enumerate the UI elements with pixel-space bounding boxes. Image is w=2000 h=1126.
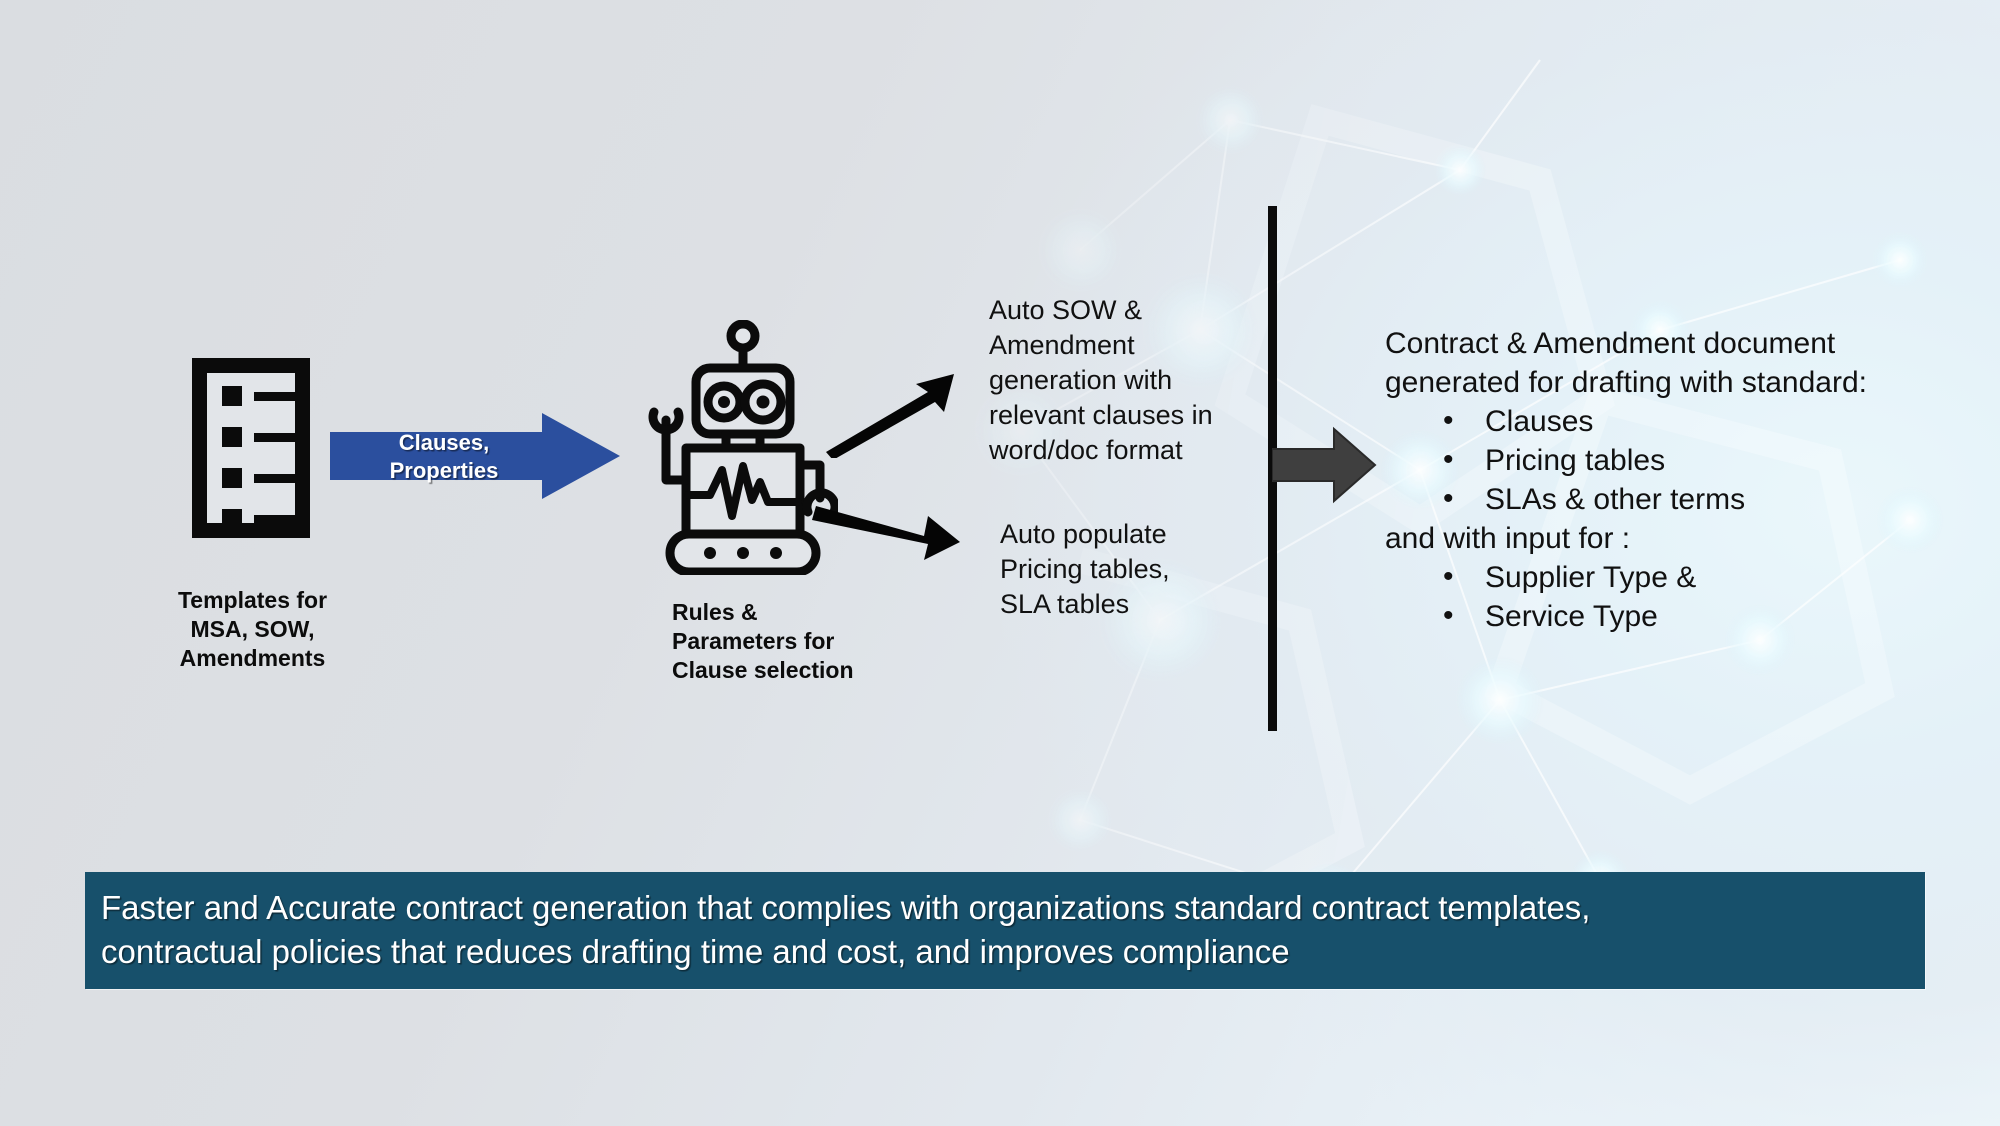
doc-text-line (254, 515, 298, 524)
rules-parameters-caption: Rules & Parameters for Clause selection (672, 598, 972, 684)
doc-row (222, 468, 298, 488)
summary-banner-text: Faster and Accurate contract generation … (101, 886, 1901, 974)
result-input-intro: and with input for : (1385, 519, 1945, 558)
slide-canvas: Templates for MSA, SOW, Amendments Claus… (0, 0, 2000, 1126)
doc-bullet-square (222, 386, 242, 406)
standard-bullet-item: Pricing tables (1385, 441, 1945, 480)
input-bullet-item: Service Type (1385, 597, 1945, 636)
result-text-block: Contract & Amendment document generated … (1385, 324, 1945, 636)
result-intro-line-2: generated for drafting with standard: (1385, 363, 1945, 402)
doc-row (222, 427, 298, 447)
result-block-arrow-icon (1272, 425, 1377, 510)
doc-bullet-square (222, 427, 242, 447)
summary-banner: Faster and Accurate contract generation … (85, 872, 1925, 989)
standard-bullet-list: Clauses Pricing tables SLAs & other term… (1385, 402, 1945, 519)
standard-bullet-item: Clauses (1385, 402, 1945, 441)
auto-populate-tables-text: Auto populate Pricing tables, SLA tables (1000, 517, 1265, 622)
auto-sow-amendment-text: Auto SOW & Amendment generation with rel… (989, 293, 1264, 468)
standard-bullet-item: SLAs & other terms (1385, 480, 1945, 519)
doc-row (222, 509, 298, 529)
templates-caption: Templates for MSA, SOW, Amendments (110, 586, 395, 672)
doc-bullet-square (222, 468, 242, 488)
doc-text-line (254, 433, 298, 442)
doc-row (222, 386, 298, 406)
doc-bullet-square (222, 509, 242, 529)
arrow-to-auto-sow-icon (820, 368, 960, 463)
input-bullet-item: Supplier Type & (1385, 558, 1945, 597)
document-list-icon (192, 358, 310, 538)
clauses-properties-arrow: Clauses, Properties (330, 413, 620, 499)
robot-icon (648, 320, 838, 580)
clauses-properties-label: Clauses, Properties (330, 429, 558, 484)
doc-text-line (254, 392, 298, 401)
arrow-to-auto-populate-icon (812, 492, 962, 572)
input-bullet-list: Supplier Type & Service Type (1385, 558, 1945, 636)
doc-text-line (254, 474, 298, 483)
result-intro-line-1: Contract & Amendment document (1385, 324, 1945, 363)
